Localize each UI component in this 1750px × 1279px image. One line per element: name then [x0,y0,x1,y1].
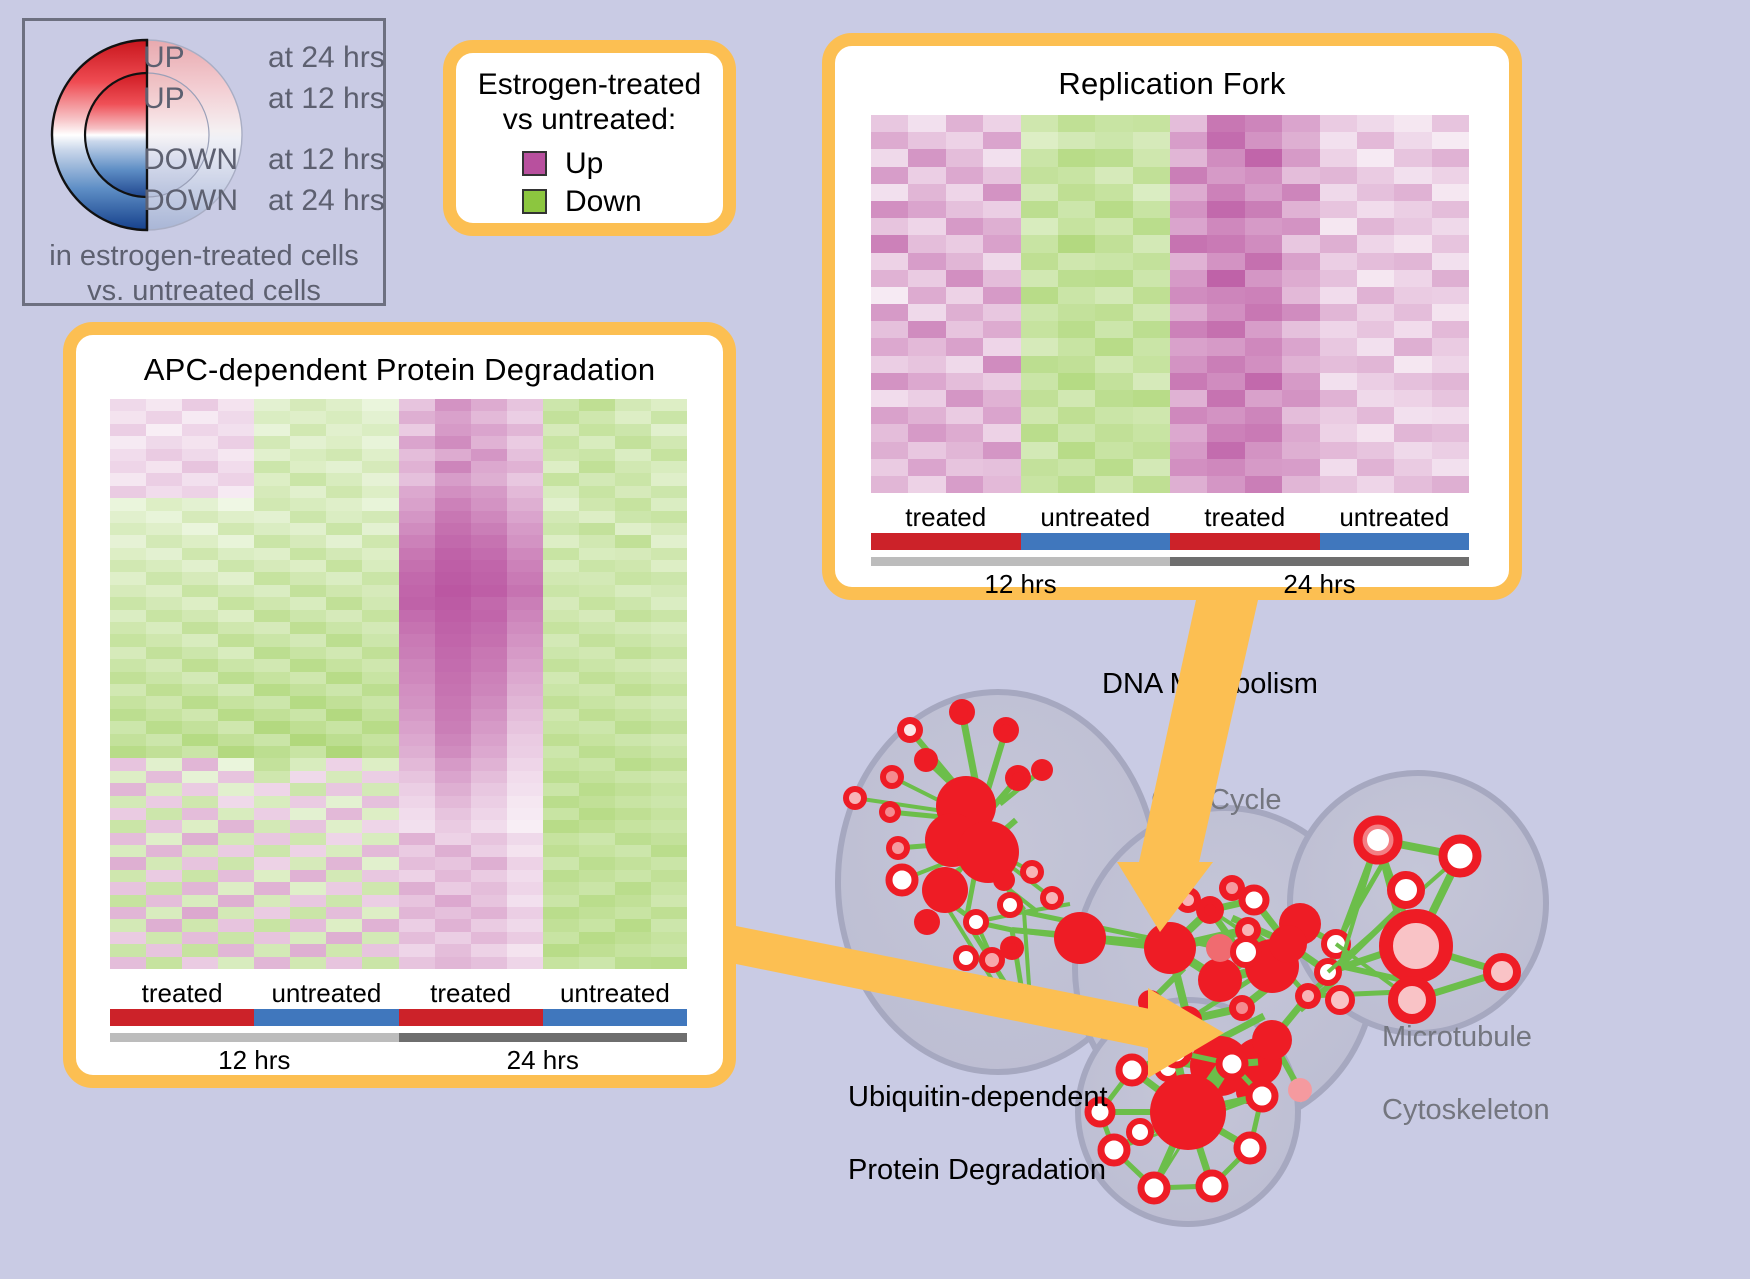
heatmap-cell [471,511,507,523]
heatmap-cell [326,734,362,746]
apc-degradation-panel: APC-dependent Protein Degradation treate… [63,322,736,1088]
heatmap-cell [362,461,398,473]
heatmap-cell [326,672,362,684]
heatmap-cell [1058,115,1095,132]
heatmap-cell [1320,270,1357,287]
heatmap-cell [399,511,435,523]
heatmap-cell [1394,235,1431,252]
heatmap-cell [1058,132,1095,149]
heatmap-cell [146,796,182,808]
heatmap-cell [1058,373,1095,390]
heatmap-cell [110,399,146,411]
heatmap-cell [182,498,218,510]
heatmap-cell [471,820,507,832]
heatmap-cell [983,390,1020,407]
heatmap-cell [146,597,182,609]
heatmap-cell [218,907,254,919]
heatmap-cell [362,424,398,436]
heatmap-cell [983,424,1020,441]
heatmap-cell [399,461,435,473]
heatmap-cell [543,808,579,820]
heatmap-cell [182,857,218,869]
heatmap-cell [471,709,507,721]
heatmap-cell [326,882,362,894]
heatmap-cell [1432,304,1469,321]
heatmap-grid [871,115,1469,493]
heatmap-cell [146,944,182,956]
heatmap-grid [110,399,687,969]
heatmap-cell [399,523,435,535]
heatmap-cell [290,411,326,423]
heatmap-cell [471,436,507,448]
heatmap-cell [326,411,362,423]
heatmap-cell [871,356,908,373]
heatmap-cell [1394,442,1431,459]
heatmap-cell [146,411,182,423]
heatmap-cell [908,390,945,407]
heatmap-cell [1133,390,1170,407]
heatmap-cell [579,672,615,684]
heatmap-cell [290,808,326,820]
heatmap-cell [908,201,945,218]
heatmap-cell [254,610,290,622]
heatmap-cell [579,634,615,646]
heatmap-cell [1432,167,1469,184]
heatmap-cell [218,895,254,907]
heatmap-cell [110,535,146,547]
heatmap-cell [182,424,218,436]
heatmap-cell [182,684,218,696]
heatmap-cell [326,436,362,448]
heatmap-cell [615,585,651,597]
heatmap-cell [435,820,471,832]
heatmap-cell [1021,407,1058,424]
heatmap-cell [1394,407,1431,424]
heatmap-cell [399,944,435,956]
heatmap-cell [1282,235,1319,252]
heatmap-cell [218,758,254,770]
heatmap-cell [543,572,579,584]
heatmap-cell [182,548,218,560]
heatmap-cell [110,622,146,634]
heatmap-cell [182,572,218,584]
heatmap-cell [399,486,435,498]
wheel-row-value: at 12 hrs [268,82,385,116]
heatmap-cell [1058,270,1095,287]
heatmap-cell [471,895,507,907]
heatmap-cell [110,672,146,684]
heatmap-cell [1021,390,1058,407]
heatmap-cell [543,411,579,423]
heatmap-cell [326,783,362,795]
heatmap-cell [1357,218,1394,235]
heatmap-cell [362,572,398,584]
heatmap-cell [579,845,615,857]
heatmap-cell [146,783,182,795]
heatmap-cell [651,932,687,944]
figure-canvas: UP at 24 hrs UP at 12 hrs DOWN at 12 hrs… [0,0,1750,1279]
heatmap-cell [1095,201,1132,218]
heatmap-cell [1058,338,1095,355]
heatmap-cell [254,783,290,795]
heatmap-cell [435,907,471,919]
heatmap-cell [326,424,362,436]
heatmap-cell [326,944,362,956]
heatmap-cell [435,535,471,547]
heatmap-cell [471,461,507,473]
heatmap-cell [435,672,471,684]
heatmap-cell [651,647,687,659]
heatmap-cell [1282,167,1319,184]
heatmap-cell [1394,115,1431,132]
heatmap-cell [471,585,507,597]
heatmap-cell [290,486,326,498]
heatmap-cell [908,253,945,270]
color-wheel-legend-box: UP at 24 hrs UP at 12 hrs DOWN at 12 hrs… [22,18,386,306]
heatmap-cell [1133,167,1170,184]
heatmap-cell [399,746,435,758]
heatmap-cell [110,709,146,721]
heatmap-cell [946,167,983,184]
wheel-row-key: DOWN [143,143,268,177]
heatmap-cell [1320,442,1357,459]
heatmap-cell [1207,287,1244,304]
heatmap-cell [110,461,146,473]
heatmap-cell [871,201,908,218]
heatmap-cell [507,895,543,907]
heatmap-cell [579,411,615,423]
heatmap-cell [1207,167,1244,184]
heatmap-cell [254,535,290,547]
heatmap-cell [871,476,908,493]
heatmap-cell [1320,373,1357,390]
heatmap-cell [435,610,471,622]
heatmap-cell [579,622,615,634]
wheel-row-spacer [143,123,385,143]
heatmap-cell [1394,132,1431,149]
heatmap-cell [579,597,615,609]
heatmap-cell [254,845,290,857]
heatmap-cell [399,449,435,461]
heatmap-cell [615,424,651,436]
heatmap-cell [1207,356,1244,373]
heatmap-cell [435,857,471,869]
heatmap-cell [615,907,651,919]
heatmap-cell [290,548,326,560]
heatmap-cell [146,672,182,684]
wheel-row-key: UP [143,82,268,116]
heatmap-cell [1432,407,1469,424]
heatmap-cell [1095,287,1132,304]
heatmap-cell [615,548,651,560]
heatmap-cell [399,808,435,820]
heatmap-cell [579,932,615,944]
heatmap-cell [908,218,945,235]
heatmap-cell [1394,184,1431,201]
heatmap-cell [1357,373,1394,390]
heatmap-cell [908,287,945,304]
heatmap-cell [218,622,254,634]
heatmap-cell [290,523,326,535]
heatmap-cell [871,115,908,132]
heatmap-cell [362,436,398,448]
heatmap-cell [615,622,651,634]
heatmap-cell [254,746,290,758]
heatmap-cell [254,511,290,523]
heatmap-cell [1207,235,1244,252]
heatmap-cell [471,808,507,820]
heatmap-cell [651,919,687,931]
group-color-segment [399,1009,543,1026]
heatmap-cell [946,442,983,459]
heatmap-cell [290,944,326,956]
heatmap-cell [507,399,543,411]
heatmap-cell [615,783,651,795]
heatmap-cell [182,932,218,944]
heatmap-cell [1170,459,1207,476]
heatmap-cell [218,932,254,944]
heatmap-cell [471,932,507,944]
heatmap-cell [1357,442,1394,459]
heatmap-cell [326,857,362,869]
heatmap-cell [1320,390,1357,407]
heatmap-cell [146,857,182,869]
heatmap-cell [254,734,290,746]
heatmap-cell [182,796,218,808]
heatmap-cell [290,696,326,708]
heatmap-cell [651,857,687,869]
heatmap-cell [1133,132,1170,149]
group-label: untreated [543,978,687,1009]
heatmap-cell [399,820,435,832]
heatmap-cell [362,684,398,696]
heatmap-cell [871,304,908,321]
heatmap-cell [507,957,543,969]
heatmap-cell [983,338,1020,355]
heatmap-cell [254,944,290,956]
heatmap-cell [110,684,146,696]
heatmap-cell [579,498,615,510]
heatmap-cell [218,696,254,708]
heatmap-cell [471,610,507,622]
heatmap-cell [1021,201,1058,218]
heatmap-cell [290,771,326,783]
wheel-row-value: at 24 hrs [268,41,385,75]
heatmap-cell [946,184,983,201]
heatmap-cell [615,696,651,708]
heatmap-cell [507,684,543,696]
heatmap-cell [543,659,579,671]
heatmap-cell [435,870,471,882]
updown-legend-panel: Estrogen-treated vs untreated: Up Down [443,40,736,236]
heatmap-cell [1432,442,1469,459]
heatmap-cell [110,572,146,584]
heatmap-cell [983,270,1020,287]
heatmap-cell [1320,321,1357,338]
heatmap-cell [1245,184,1282,201]
heatmap-cell [543,684,579,696]
heatmap-cell [290,684,326,696]
heatmap-cell [579,461,615,473]
heatmap-cell [1282,270,1319,287]
heatmap-cell [1394,253,1431,270]
heatmap-cell [1170,287,1207,304]
up-color-swatch-icon [522,151,547,176]
heatmap-cell [871,167,908,184]
heatmap-cell [435,758,471,770]
heatmap-cell [146,820,182,832]
heatmap-cell [507,647,543,659]
heatmap-cell [1245,407,1282,424]
heatmap-cell [362,511,398,523]
heatmap-cell [1058,167,1095,184]
heatmap-cell [399,597,435,609]
heatmap-cell [1095,459,1132,476]
wheel-row: DOWN at 24 hrs [143,184,385,225]
heatmap-cell [435,647,471,659]
heatmap-cell [182,957,218,969]
heatmap-cell [946,321,983,338]
heatmap-cell [507,907,543,919]
heatmap-cell [615,523,651,535]
heatmap-cell [435,808,471,820]
heatmap-cell [615,857,651,869]
heatmap-cell [651,845,687,857]
heatmap-cell [471,647,507,659]
heatmap-cell [182,672,218,684]
heatmap-cell [579,572,615,584]
heatmap-cell [615,659,651,671]
heatmap-cell [326,919,362,931]
heatmap-cell [1133,476,1170,493]
heatmap-cell [1282,287,1319,304]
heatmap-cell [1170,407,1207,424]
heatmap-cell [399,833,435,845]
heatmap-cell [254,820,290,832]
heatmap-cell [946,407,983,424]
heatmap-cell [1207,321,1244,338]
heatmap-cell [1170,115,1207,132]
heatmap-cell [110,808,146,820]
heatmap-cell [399,560,435,572]
heatmap-cell [507,932,543,944]
heatmap-cell [182,919,218,931]
heatmap-cell [218,783,254,795]
heatmap-cell [651,833,687,845]
heatmap-cell [507,796,543,808]
heatmap-cell [1021,476,1058,493]
heatmap-cell [983,132,1020,149]
heatmap-cell [507,845,543,857]
heatmap-cell [1320,235,1357,252]
heatmap-cell [543,771,579,783]
heatmap-cell [543,597,579,609]
treatment-color-bar [110,1009,687,1026]
heatmap-cell [871,459,908,476]
heatmap-cell [290,585,326,597]
heatmap-cell [471,548,507,560]
heatmap-cell [218,610,254,622]
heatmap-cell [218,461,254,473]
heatmap-cell [435,572,471,584]
heatmap-cell [615,597,651,609]
heatmap-cell [615,411,651,423]
heatmap-cell [146,560,182,572]
heatmap-cell [290,622,326,634]
heatmap-cell [435,882,471,894]
heatmap-cell [507,424,543,436]
heatmap-cell [290,498,326,510]
heatmap-cell [146,833,182,845]
heatmap-cell [651,473,687,485]
heatmap-cell [110,511,146,523]
heatmap-cell [1095,235,1132,252]
heatmap-cell [651,870,687,882]
heatmap-cell [290,560,326,572]
heatmap-cell [543,857,579,869]
heatmap-cell [1021,442,1058,459]
heatmap-cell [1207,218,1244,235]
heatmap-cell [1207,270,1244,287]
heatmap-cell [579,399,615,411]
heatmap-cell [362,870,398,882]
heatmap-cell [326,845,362,857]
heatmap-cell [146,622,182,634]
heatmap-cell [1282,338,1319,355]
heatmap-cell [326,585,362,597]
heatmap-cell [1058,442,1095,459]
heatmap-cell [1207,373,1244,390]
timepoint-color-segment [399,1033,688,1042]
heatmap-cell [908,304,945,321]
heatmap-cell [435,436,471,448]
heatmap-cell [1245,321,1282,338]
apc-heatmap-body: treateduntreatedtreateduntreated 12 hrs2… [110,399,687,1076]
heatmap-cell [290,882,326,894]
heatmap-cell [471,411,507,423]
heatmap-cell [471,560,507,572]
heatmap-cell [326,907,362,919]
heatmap-cell [1320,424,1357,441]
wheel-row-key: UP [143,41,268,75]
heatmap-cell [579,709,615,721]
heatmap-cell [1170,424,1207,441]
heatmap-cell [1432,235,1469,252]
heatmap-cell [543,746,579,758]
heatmap-cell [1133,270,1170,287]
heatmap-cell [182,709,218,721]
heatmap-cell [435,424,471,436]
heatmap-cell [1095,132,1132,149]
heatmap-cell [871,235,908,252]
heatmap-cell [399,734,435,746]
heatmap-cell [1394,321,1431,338]
heatmap-cell [254,597,290,609]
heatmap-cell [1320,356,1357,373]
heatmap-cell [983,476,1020,493]
heatmap-cell [579,424,615,436]
heatmap-cell [1394,218,1431,235]
heatmap-cell [326,399,362,411]
heatmap-cell [1095,338,1132,355]
group-color-segment [254,1009,398,1026]
heatmap-cell [362,473,398,485]
heatmap-cell [1432,424,1469,441]
heatmap-cell [1320,253,1357,270]
heatmap-cell [1282,149,1319,166]
heatmap-cell [1432,132,1469,149]
caption-line-2: vs. untreated cells [25,274,383,309]
